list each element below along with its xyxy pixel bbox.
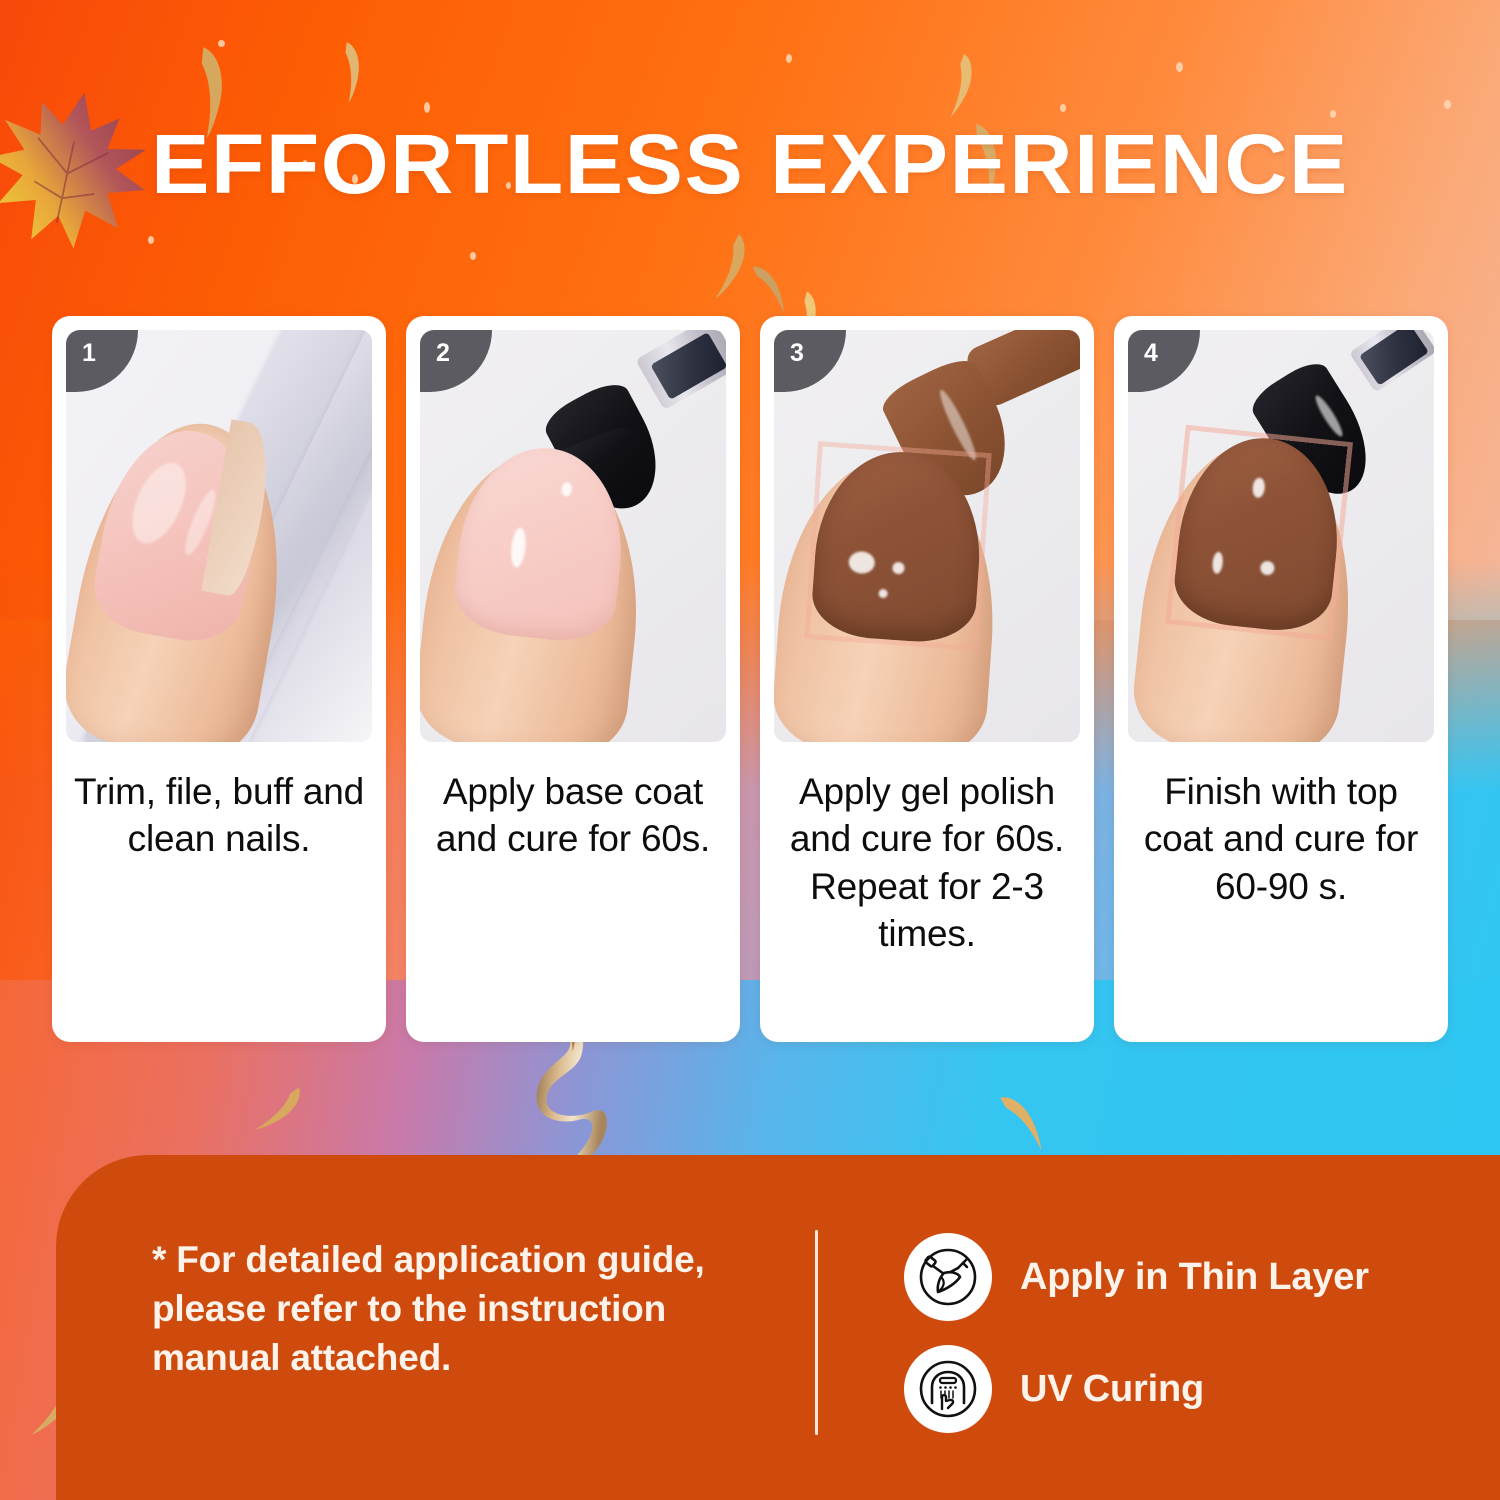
step-caption: Apply base coat and cure for 60s. (423, 768, 723, 863)
feature-label: Apply in Thin Layer (1020, 1256, 1369, 1299)
step-photo: 2 (420, 330, 726, 742)
feature-uv-curing: UV Curing (904, 1345, 1204, 1433)
nail-photo-step-1 (66, 330, 372, 742)
step-caption: Trim, file, buff and clean nails. (69, 768, 369, 863)
step-photo: 3 (774, 330, 1080, 742)
nail-photo-step-4 (1128, 330, 1434, 742)
feature-label: UV Curing (1020, 1368, 1204, 1411)
instruction-manual-note: * For detailed application guide, please… (152, 1235, 772, 1383)
brush-stroke-icon (904, 1233, 992, 1321)
steps-card-row: 1 Trim, file, buff and clean nails. 2 Ap… (52, 316, 1448, 1042)
step-card[interactable]: 3 Apply gel polish and cure for 60s. Rep… (760, 316, 1094, 1042)
page-title: EFFORTLESS EXPERIENCE (0, 122, 1500, 206)
feature-apply-thin-layer: Apply in Thin Layer (904, 1233, 1369, 1321)
step-card[interactable]: 4 Finish with top coat and cure for 60-9… (1114, 316, 1448, 1042)
nail-photo-step-2 (420, 330, 726, 742)
step-caption: Finish with top coat and cure for 60-90 … (1131, 768, 1431, 910)
nail-photo-step-3 (774, 330, 1080, 742)
vertical-divider (815, 1230, 818, 1435)
step-photo: 4 (1128, 330, 1434, 742)
step-photo: 1 (66, 330, 372, 742)
footer-banner: * For detailed application guide, please… (56, 1155, 1500, 1500)
step-card[interactable]: 2 Apply base coat and cure for 60s. (406, 316, 740, 1042)
step-card[interactable]: 1 Trim, file, buff and clean nails. (52, 316, 386, 1042)
step-caption: Apply gel polish and cure for 60s. Repea… (777, 768, 1077, 957)
uv-lamp-icon (904, 1345, 992, 1433)
